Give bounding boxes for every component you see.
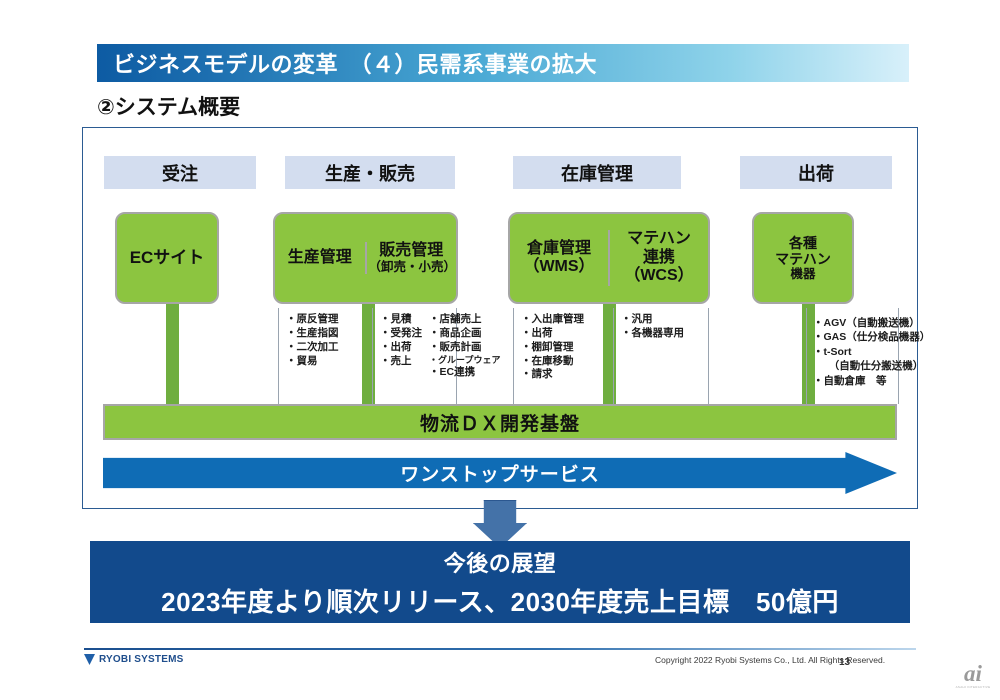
list-item: ・GAS（仕分検品機器） xyxy=(813,330,930,344)
box-equipment-label-line2: マテハン xyxy=(775,251,831,267)
platform-bar[interactable]: 物流ＤＸ開発基盤 xyxy=(103,404,897,440)
connector-stem-production-sales xyxy=(362,300,375,412)
list-item: ・AGV（自動搬送機） xyxy=(813,316,930,330)
box-sales[interactable]: 販売管理 （卸売・小売） xyxy=(365,242,457,275)
page-number: 13 xyxy=(839,657,850,668)
box-wcs-label-line3: （WCS） xyxy=(624,267,693,285)
bullet-divider-wcs-right xyxy=(708,308,709,404)
box-sales-label-line2: （卸売・小売） xyxy=(369,260,455,274)
list-item: ・生産指図 xyxy=(286,327,339,341)
list-item: ・EC連携 xyxy=(429,366,500,380)
list-item: ・売上 xyxy=(380,355,422,369)
box-production-label: 生産管理 xyxy=(288,249,352,267)
bullet-list-wms: ・入出庫管理 ・出荷 ・棚卸管理 ・在庫移動 ・請求 xyxy=(521,313,584,382)
bullet-divider-equipment-left xyxy=(806,308,807,404)
bullet-list-sales-col1: ・見積 ・受発注 ・出荷 ・売上 xyxy=(380,313,422,380)
ryobi-logo-text: RYOBI SYSTEMS xyxy=(99,654,183,665)
list-item: ・出荷 xyxy=(380,341,422,355)
box-sales-label-line1: 販売管理 xyxy=(369,242,455,260)
bullet-list-sales-col2: ・店舗売上 ・商品企画 ・販売計画 ・グループウェア ・EC連携 xyxy=(429,313,500,380)
box-ec-site-label: ECサイト xyxy=(130,248,205,268)
bullet-divider-wcs-left xyxy=(613,308,614,404)
list-item: ・販売計画 xyxy=(429,341,500,355)
platform-bar-label: 物流ＤＸ開発基盤 xyxy=(420,409,580,436)
bullet-divider-sales-left xyxy=(372,308,373,404)
list-item: ・店舗売上 xyxy=(429,313,500,327)
one-stop-service-label: ワンストップサービス xyxy=(103,460,897,487)
list-item: ・貿易 xyxy=(286,355,339,369)
box-equipment-label-line3: 機器 xyxy=(775,267,831,281)
box-equipment[interactable]: 各種 マテハン 機器 xyxy=(752,212,854,304)
one-stop-service-arrow[interactable]: ワンストップサービス xyxy=(103,452,897,494)
box-group-production-sales: 生産管理 販売管理 （卸売・小売） xyxy=(273,212,458,304)
list-item: ・受発注 xyxy=(380,327,422,341)
box-wcs[interactable]: マテハン 連携 （WCS） xyxy=(608,230,708,285)
category-header-shukka: 出荷 xyxy=(740,156,892,189)
list-item: ・原反管理 xyxy=(286,313,339,327)
list-item: ・商品企画 xyxy=(429,327,500,341)
connector-stem-wms-wcs xyxy=(603,300,616,412)
ryobi-logo-mark-icon xyxy=(84,654,95,665)
category-header-zaiko-kanri: 在庫管理 xyxy=(513,156,681,189)
conclusion-line2: 2023年度より順次リリース、2030年度売上目標 50億円 xyxy=(161,582,839,619)
page-title: ビジネスモデルの変革 （４）民需系事業の拡大 xyxy=(113,47,597,79)
list-item: ・グループウェア xyxy=(429,355,500,367)
list-item: ・各機器専用 xyxy=(621,327,684,341)
bullet-list-sales: ・見積 ・受発注 ・出荷 ・売上 ・店舗売上 ・商品企画 ・販売計画 ・グループ… xyxy=(380,313,500,380)
box-production[interactable]: 生産管理 xyxy=(275,249,365,267)
list-item: ・見積 xyxy=(380,313,422,327)
list-item: ・自動倉庫 等 xyxy=(813,374,930,388)
bullet-divider-wms-left xyxy=(513,308,514,404)
bullet-divider-production-left xyxy=(278,308,279,404)
list-item: ・入出庫管理 xyxy=(521,313,584,327)
slide-title-bar: ビジネスモデルの変革 （４）民需系事業の拡大 xyxy=(97,44,909,82)
list-item: （自動仕分搬送機） xyxy=(813,359,930,373)
box-ec-site[interactable]: ECサイト xyxy=(115,212,219,304)
box-wms-label-line2: （WMS） xyxy=(523,258,594,276)
ai-watermark-subtext: ASAHI INTERACTIVE xyxy=(953,686,993,689)
bullet-list-equipment: ・AGV（自動搬送機） ・GAS（仕分検品機器） ・t-Sort （自動仕分搬送… xyxy=(813,316,930,388)
box-equipment-label-line1: 各種 xyxy=(775,235,831,251)
box-wcs-label-line1: マテハン xyxy=(624,230,693,248)
bullet-list-production: ・原反管理 ・生産指図 ・二次加工 ・貿易 xyxy=(286,313,339,368)
list-item: ・請求 xyxy=(521,368,584,382)
category-header-seisan-hanbai: 生産・販売 xyxy=(285,156,455,189)
list-item: ・出荷 xyxy=(521,327,584,341)
box-wcs-label-line2: 連携 xyxy=(624,249,693,267)
box-wms-label-line1: 倉庫管理 xyxy=(523,240,594,258)
copyright-text: Copyright 2022 Ryobi Systems Co., Ltd. A… xyxy=(655,655,885,665)
list-item: ・汎用 xyxy=(621,313,684,327)
footer-divider xyxy=(84,648,916,650)
list-item: ・二次加工 xyxy=(286,341,339,355)
bullet-list-wcs: ・汎用 ・各機器専用 xyxy=(621,313,684,341)
ai-watermark-text: ai xyxy=(964,661,982,686)
section-heading: ②システム概要 xyxy=(97,91,240,121)
conclusion-line1: 今後の展望 xyxy=(444,546,557,578)
list-item: ・在庫移動 xyxy=(521,355,584,369)
box-wms[interactable]: 倉庫管理 （WMS） xyxy=(510,240,608,277)
ryobi-systems-logo: RYOBI SYSTEMS xyxy=(84,654,183,665)
category-header-juchu: 受注 xyxy=(104,156,256,189)
ai-watermark-logo: ai ASAHI INTERACTIVE xyxy=(953,662,993,689)
box-group-wms-wcs: 倉庫管理 （WMS） マテハン 連携 （WCS） xyxy=(508,212,710,304)
list-item: ・棚卸管理 xyxy=(521,341,584,355)
conclusion-box: 今後の展望 2023年度より順次リリース、2030年度売上目標 50億円 xyxy=(90,541,910,623)
connector-stem-ec xyxy=(166,300,179,412)
list-item: ・t-Sort xyxy=(813,345,930,359)
